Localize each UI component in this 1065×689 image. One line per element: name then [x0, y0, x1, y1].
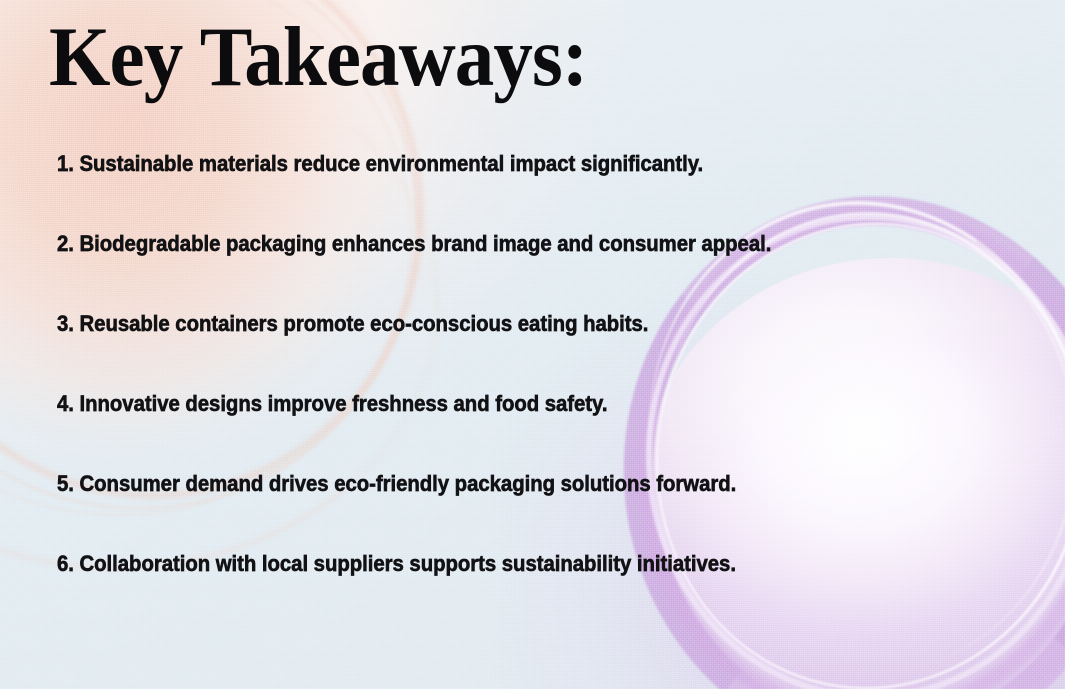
slide-canvas: Key Takeaways: 1. Sustainable materials … [0, 0, 1065, 689]
list-item: 2. Biodegradable packaging enhances bran… [57, 232, 933, 312]
page-title: Key Takeaways: [49, 15, 587, 100]
list-item: 5. Consumer demand drives eco-friendly p… [57, 472, 933, 552]
slide-content: Key Takeaways: 1. Sustainable materials … [0, 0, 1065, 689]
list-item: 6. Collaboration with local suppliers su… [57, 552, 933, 632]
takeaways-list: 1. Sustainable materials reduce environm… [57, 152, 1025, 632]
list-item: 3. Reusable containers promote eco-consc… [57, 312, 933, 392]
list-item: 1. Sustainable materials reduce environm… [57, 152, 933, 232]
list-item: 4. Innovative designs improve freshness … [57, 392, 933, 472]
